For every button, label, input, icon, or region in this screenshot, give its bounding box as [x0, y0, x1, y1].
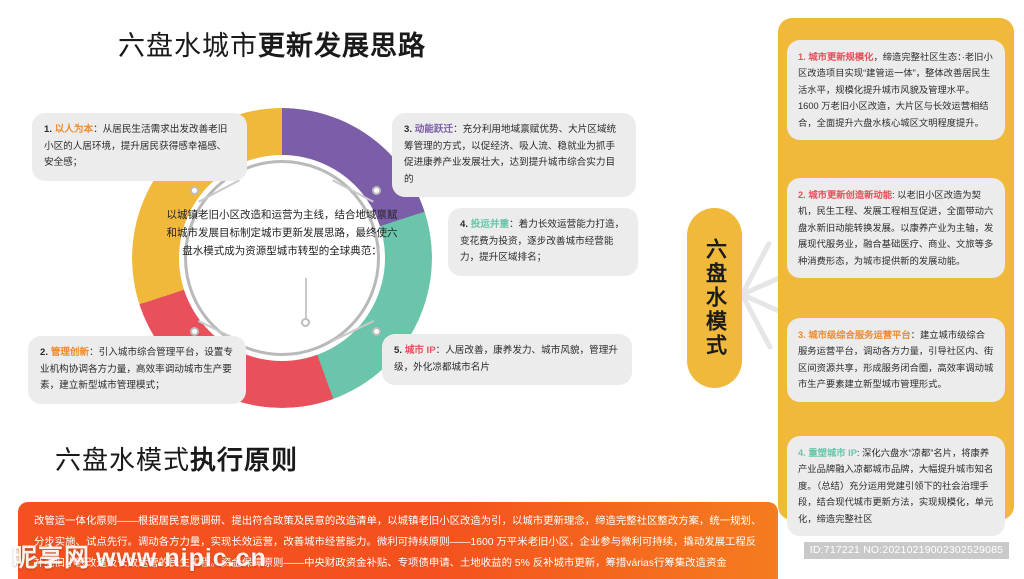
right-item-4-lead: 重塑城市 IP: [808, 448, 857, 458]
right-item-1-lead: 城市更新规模化: [808, 52, 873, 62]
donut-center-text: 以城镇老旧小区改造和运营为主线，结合地域禀赋和城市发展目标制定城市更新发展思路，…: [166, 206, 398, 260]
section-title-thin: 六盘水模式: [55, 445, 190, 475]
model-pill-label: 六盘水模式: [700, 238, 730, 358]
section-title-bold: 执行原则: [190, 445, 298, 475]
right-item-2-body: : 以老旧小区改造为契机，民生工程、发展工程相互促进，全面带动六盘水新旧动能转换…: [798, 190, 993, 266]
callout-3-lead: 动能跃迁: [415, 124, 453, 135]
right-item-2-number: 2.: [798, 190, 806, 200]
right-item-1: 1. 城市更新规模化，缔造完整社区生态：·老旧小区改造项目实现“建管运一体”，整…: [787, 40, 1005, 140]
watermark-brand: 昵享网: [12, 544, 90, 572]
callout-4-lead: 投运并重: [471, 219, 509, 230]
callout-bubble-1: 1. 以人为本：从居民生活需求出发改善老旧小区的人居环境，提升居民获得感幸福感、…: [32, 113, 247, 181]
watermark-url: www.nipic.cn: [96, 544, 267, 572]
page-title-bold: 更新发展思路: [258, 31, 426, 61]
right-panel: 1. 城市更新规模化，缔造完整社区生态：·老旧小区改造项目实现“建管运一体”，整…: [778, 18, 1014, 520]
image-id-tag: ID:717221 NO:20210219002302529085: [804, 542, 1009, 559]
right-item-3: 3. 城市级综合服务运营平台：建立城市级综合服务运营平台，调动各方力量，引导社区…: [787, 318, 1005, 402]
callout-1-number: 1.: [44, 124, 52, 135]
callout-bubble-2: 2. 管理创新：引入城市综合管理平台，设置专业机构协调各方力量，高效率调动城市生…: [28, 336, 246, 404]
callout-3-number: 3.: [404, 124, 412, 135]
callout-5-number: 5.: [394, 345, 402, 356]
right-item-1-number: 1.: [798, 52, 806, 62]
right-item-1-body: ，缔造完整社区生态：·老旧小区改造项目实现“建管运一体”，整体改善居民生活水平，…: [798, 52, 993, 128]
right-item-3-lead: 城市级综合服务运营平台: [808, 330, 910, 340]
callout-4-number: 4.: [460, 219, 468, 230]
infographic-canvas: 六盘水城市更新发展思路 六盘水模式执行原则 以城镇老旧小区改造和运营为主线，结合…: [0, 0, 1024, 579]
connector-node-2: [190, 327, 199, 336]
callout-bubble-3: 3. 动能跃迁：充分利用地域禀赋优势、大片区域统筹管理的方式，以促经济、吸人流、…: [392, 113, 636, 197]
callout-2-lead: 管理创新: [51, 347, 89, 358]
callout-bubble-4: 4. 投运并重：着力长效运营能力打造，变花费为投资，逐步改善城市经营能力，提升区…: [448, 208, 638, 276]
right-item-2-lead: 城市更新创造新动能: [808, 190, 892, 200]
connector-node-1: [190, 186, 199, 195]
section-title-principles: 六盘水模式执行原则: [55, 440, 298, 477]
connector-line-4: [305, 278, 307, 322]
right-item-4-number: 4.: [798, 448, 806, 458]
right-item-3-number: 3.: [798, 330, 806, 340]
callout-1-lead: 以人为本: [55, 124, 93, 135]
right-item-4: 4. 重塑城市 IP: 深化六盘水“凉都”名片，将康养产业品牌融入凉都城市品牌，…: [787, 436, 1005, 536]
callout-bubble-5: 5. 城市 IP：人居改善，康养发力、城市风貌，管理升级，外化凉都城市名片: [382, 334, 632, 385]
right-item-2: 2. 城市更新创造新动能: 以老旧小区改造为契机，民生工程、发展工程相互促进，全…: [787, 178, 1005, 278]
page-title-thin: 六盘水城市: [118, 31, 258, 61]
callout-5-lead: 城市 IP: [405, 345, 436, 356]
watermark: 昵享网www.nipic.cn: [12, 538, 267, 574]
connector-node-5: [372, 327, 381, 336]
callout-2-number: 2.: [40, 347, 48, 358]
connector-node-4: [301, 318, 310, 327]
right-item-4-body: : 深化六盘水“凉都”名片，将康养产业品牌融入凉都城市品牌，大幅提升城市知名度。…: [798, 448, 993, 524]
model-pill-badge: 六盘水模式: [687, 208, 742, 388]
page-title: 六盘水城市更新发展思路: [118, 24, 426, 63]
connector-node-3: [372, 186, 381, 195]
